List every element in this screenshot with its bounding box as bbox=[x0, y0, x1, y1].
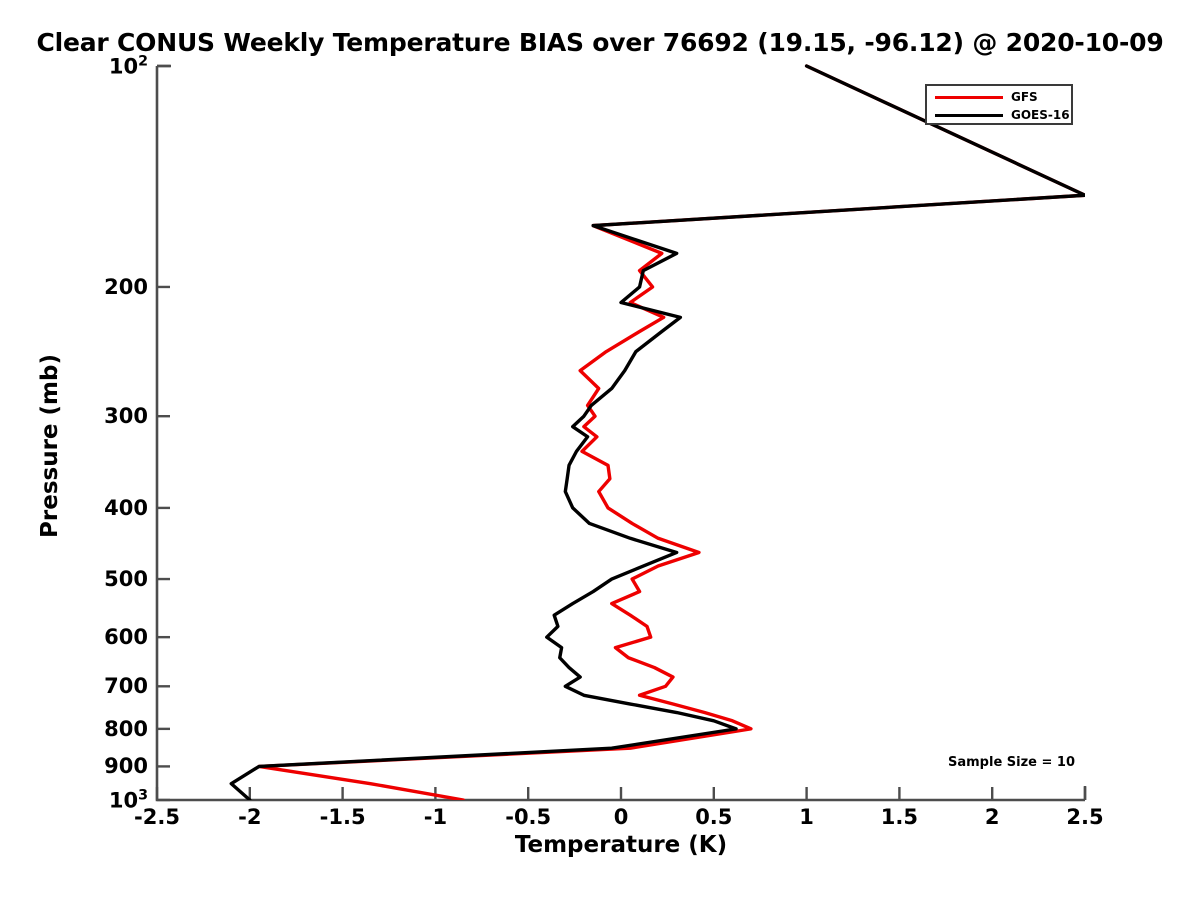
legend-swatch-gfs bbox=[935, 96, 1003, 99]
x-tick-label: 2.5 bbox=[1066, 805, 1103, 829]
x-tick-label: 1.5 bbox=[881, 805, 918, 829]
x-tick-label: -2 bbox=[238, 805, 261, 829]
y-axis-label: Pressure (mb) bbox=[37, 296, 63, 596]
axes-frame bbox=[157, 66, 1085, 800]
y-tick-label: 200 bbox=[104, 275, 148, 299]
x-tick-label: 0 bbox=[614, 805, 629, 829]
y-tick-label: 600 bbox=[104, 625, 148, 649]
x-tick-label: 2 bbox=[985, 805, 1000, 829]
y-tick-label: 500 bbox=[104, 567, 148, 591]
x-tick-label: 0.5 bbox=[695, 805, 732, 829]
y-tick-label: 700 bbox=[104, 674, 148, 698]
y-tick-label: 800 bbox=[104, 717, 148, 741]
x-axis-label: Temperature (K) bbox=[157, 832, 1085, 858]
legend-label-gfs: GFS bbox=[1011, 90, 1038, 104]
y-tick-label: 300 bbox=[104, 404, 148, 428]
axis-ticks bbox=[157, 66, 1085, 800]
series-line-gfs bbox=[259, 66, 1085, 800]
figure-canvas: Clear CONUS Weekly Temperature BIAS over… bbox=[0, 0, 1200, 900]
y-tick-label: 900 bbox=[104, 754, 148, 778]
legend: GFS GOES-16 bbox=[925, 84, 1073, 125]
legend-item-gfs: GFS bbox=[927, 88, 1071, 106]
x-tick-label: -1.5 bbox=[320, 805, 366, 829]
data-series bbox=[231, 66, 1085, 800]
x-tick-label: -1 bbox=[424, 805, 447, 829]
legend-item-goes16: GOES-16 bbox=[927, 106, 1071, 124]
x-tick-label: 1 bbox=[799, 805, 814, 829]
legend-label-goes16: GOES-16 bbox=[1011, 108, 1070, 122]
y-tick-label: 103 bbox=[109, 788, 148, 813]
legend-swatch-goes16 bbox=[935, 114, 1003, 117]
x-tick-label: -0.5 bbox=[505, 805, 551, 829]
sample-size-annotation: Sample Size = 10 bbox=[948, 755, 1075, 770]
y-tick-label: 400 bbox=[104, 496, 148, 520]
y-tick-label: 102 bbox=[109, 54, 148, 79]
